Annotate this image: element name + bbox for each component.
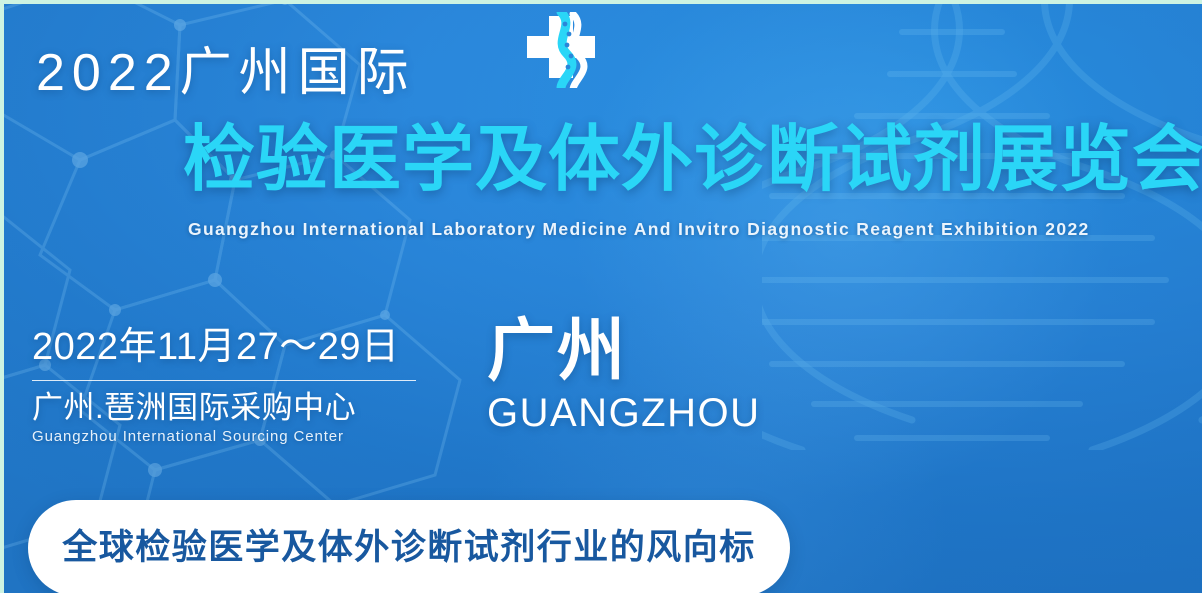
poster-content: 2022广州国际 检验医学及体外诊断试剂展览会 Guangzhou Intern… bbox=[0, 0, 1202, 593]
exhibition-poster: 2022广州国际 检验医学及体外诊断试剂展览会 Guangzhou Intern… bbox=[0, 0, 1202, 593]
subtitle-english: Guangzhou International Laboratory Medic… bbox=[188, 219, 1090, 240]
city-name-en: GUANGZHOU bbox=[487, 393, 761, 433]
headline-line-1: 2022广州国际 bbox=[36, 47, 416, 99]
slogan-pill: 全球检验医学及体外诊断试剂行业的风向标 bbox=[28, 500, 790, 593]
event-date: 2022年11月27～29日 bbox=[32, 327, 422, 369]
divider-rule bbox=[32, 380, 416, 381]
venue-name-cn: 广州.琶洲国际采购中心 bbox=[32, 390, 422, 426]
slogan-text: 全球检验医学及体外诊断试剂行业的风向标 bbox=[62, 519, 756, 570]
city-name-cn: 广州 bbox=[487, 317, 761, 385]
city-block: 广州 GUANGZHOU bbox=[487, 317, 761, 433]
date-venue-block: 2022年11月27～29日 广州.琶洲国际采购中心 Guangzhou Int… bbox=[32, 327, 422, 445]
venue-name-en: Guangzhou International Sourcing Center bbox=[32, 428, 422, 445]
headline-line-2: 检验医学及体外诊断试剂展览会 bbox=[183, 124, 1202, 196]
medical-cross-dna-icon bbox=[515, 12, 605, 88]
